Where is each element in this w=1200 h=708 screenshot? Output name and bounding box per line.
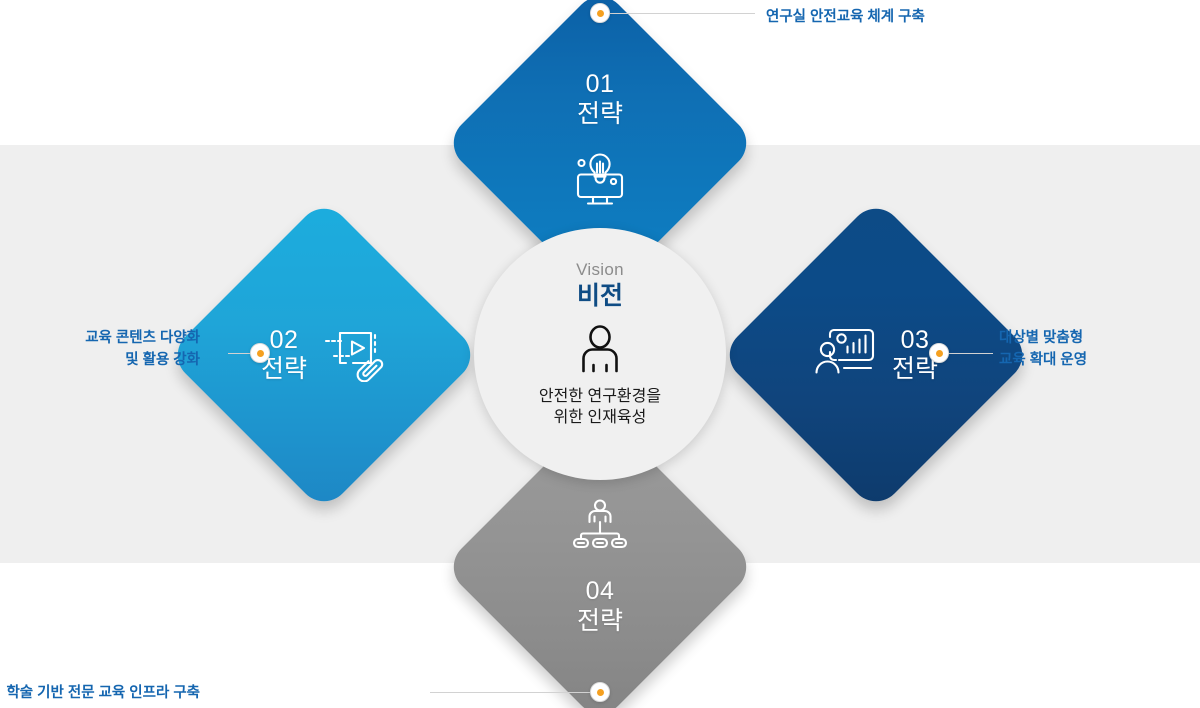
- connector-line-04: [430, 692, 590, 693]
- caption-02: 교육 콘텐츠 다양화 및 활용 강화: [85, 327, 200, 372]
- org-chart-icon: [571, 498, 629, 555]
- vision-description-line2: 위한 인재육성: [539, 407, 661, 428]
- strategy-card-04-label: 04 전략: [577, 577, 623, 636]
- caption-02-line1: 교육 콘텐츠 다양화: [85, 327, 200, 349]
- vision-circle: Vision 비전 안전한 연구환경을 위한 인재육성: [474, 228, 726, 480]
- vision-en-label: Vision: [576, 261, 624, 278]
- monitor-lightbulb-icon: [571, 151, 629, 212]
- person-icon: [577, 325, 623, 378]
- connector-line-01: [610, 13, 755, 14]
- strategy-card-02[interactable]: 02 전략: [167, 198, 481, 512]
- strategy-number-01: 01: [577, 70, 623, 100]
- connector-dot-02: [250, 343, 270, 363]
- strategy-card-03[interactable]: 03 전략: [719, 198, 1033, 512]
- caption-04: 학술 기반 전문 교육 인프라 구축: [6, 682, 200, 704]
- strategy-card-04-content: 04 전략: [489, 456, 711, 678]
- caption-01: 연구실 안전교육 체계 구축: [766, 6, 925, 28]
- connector-dot-04: [590, 682, 610, 702]
- strategy-word-04: 전략: [577, 607, 623, 637]
- strategy-diagram: 01 전략 02 전략: [0, 0, 1200, 708]
- vision-description: 안전한 연구환경을 위한 인재육성: [539, 386, 661, 428]
- vision-description-line1: 안전한 연구환경을: [539, 386, 661, 407]
- vision-ko-label: 비전: [577, 283, 623, 311]
- strategy-number-04: 04: [577, 577, 623, 607]
- strategy-card-01-content: 01 전략: [489, 32, 711, 254]
- strategy-word-01: 전략: [577, 100, 623, 130]
- connector-line-03: [948, 353, 993, 354]
- caption-02-line2: 및 활용 강화: [85, 349, 200, 371]
- video-attachment-icon: [323, 324, 387, 387]
- strategy-word-02: 전략: [261, 355, 307, 385]
- presenter-chart-icon: [814, 326, 876, 385]
- strategy-card-01-label: 01 전략: [577, 70, 623, 129]
- strategy-card-03-content: 03 전략: [765, 244, 987, 466]
- caption-04-line1: 학술 기반 전문 교육 인프라 구축: [6, 682, 200, 704]
- connector-dot-01: [590, 3, 610, 23]
- caption-03-line2: 교육 확대 운영: [999, 349, 1087, 371]
- strategy-card-02-content: 02 전략: [213, 244, 435, 466]
- connector-dot-03: [929, 343, 949, 363]
- caption-03: 대상별 맞춤형 교육 확대 운영: [999, 327, 1087, 372]
- caption-01-line1: 연구실 안전교육 체계 구축: [766, 6, 925, 28]
- caption-03-line1: 대상별 맞춤형: [999, 327, 1087, 349]
